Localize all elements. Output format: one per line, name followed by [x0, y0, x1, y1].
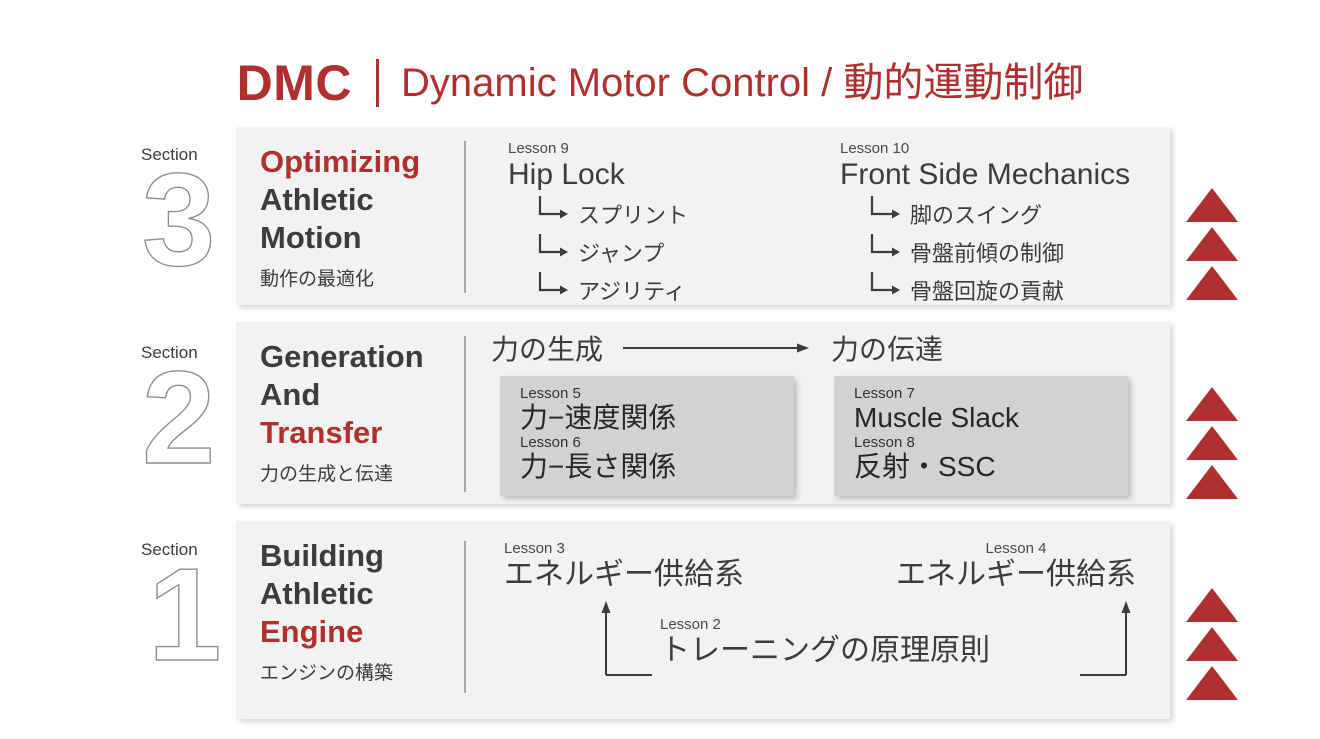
section-heading-3: Optimizing Athletic Motion 動作の最適化	[260, 143, 460, 291]
svg-text:2: 2	[142, 359, 215, 479]
flow-row: 力の生成 力の伝達	[491, 330, 1151, 370]
svg-text:1: 1	[148, 556, 221, 676]
elbow-arrow-icon	[868, 194, 902, 229]
lesson-title: 反射・SSC	[854, 452, 1112, 483]
lesson-label: Lesson 5	[520, 386, 778, 403]
sub-item-row[interactable]: ジャンプ	[536, 229, 688, 267]
section-divider-2	[464, 336, 466, 492]
lesson-label: Lesson 2	[660, 617, 990, 634]
lesson-label: Lesson 3	[504, 541, 744, 558]
triangle-group-2	[1186, 387, 1242, 504]
svg-text:3: 3	[142, 161, 215, 281]
heading-subtitle-ja: 動作の最適化	[260, 264, 460, 291]
heading-line: Motion	[260, 219, 460, 257]
flow-from-label: 力の生成	[491, 336, 603, 364]
sub-item-label: スプリント	[578, 205, 688, 227]
flow-to-label: 力の伝達	[831, 336, 943, 364]
lesson-title: Front Side Mechanics	[840, 158, 1130, 191]
lesson-title: 力−長さ関係	[520, 452, 778, 483]
triangle-marker	[1186, 227, 1238, 261]
triangle-marker	[1186, 627, 1238, 661]
heading-line-accent: Transfer	[260, 414, 460, 452]
section-band-3: Optimizing Athletic Motion 動作の最適化 Lesson…	[236, 127, 1170, 305]
heading-line-accent: Optimizing	[260, 143, 460, 181]
sub-item-row[interactable]: 骨盤前傾の制御	[868, 229, 1130, 267]
triangle-marker	[1186, 426, 1238, 460]
section-heading-2: Generation And Transfer 力の生成と伝達	[260, 338, 460, 486]
section-numeral-1: 1	[138, 556, 234, 676]
lesson-title: Hip Lock	[508, 158, 688, 191]
elbow-arrow-icon	[868, 232, 902, 267]
section-band-2: Generation And Transfer 力の生成と伝達 力の生成 力の伝…	[236, 322, 1170, 504]
lesson-block-10[interactable]: Lesson 10 Front Side Mechanics 脚のスイング 骨盤…	[840, 141, 1130, 305]
lesson-label: Lesson 8	[854, 435, 1112, 452]
page-subtitle: Dynamic Motor Control / 動的運動制御	[401, 63, 1083, 103]
heading-line: Athletic	[260, 575, 460, 613]
triangle-marker	[1186, 666, 1238, 700]
sub-item-label: 骨盤前傾の制御	[910, 243, 1064, 265]
lesson-title: エネルギー供給系	[504, 558, 744, 591]
title-divider-rule	[376, 59, 379, 107]
triangle-marker	[1186, 588, 1238, 622]
heading-line: Building	[260, 537, 460, 575]
heading-line-accent: Engine	[260, 613, 460, 651]
triangle-group-1	[1186, 588, 1242, 705]
lesson-label: Lesson 9	[508, 141, 688, 158]
triangle-group-3	[1186, 188, 1242, 305]
right-arrow-icon	[623, 340, 811, 361]
sub-item-label: 脚のスイング	[910, 205, 1042, 227]
section-tag-2: Section 2	[138, 344, 234, 479]
triangle-marker	[1186, 188, 1238, 222]
section-tag-3: Section 3	[138, 146, 234, 281]
section-divider-3	[464, 141, 466, 293]
heading-line: Athletic	[260, 181, 460, 219]
sub-item-row[interactable]: 骨盤回旋の貢献	[868, 267, 1130, 305]
sub-item-row[interactable]: スプリント	[536, 191, 688, 229]
lesson-block-4[interactable]: Lesson 4 エネルギー供給系	[896, 541, 1136, 591]
heading-line: And	[260, 376, 460, 414]
section-numeral-2: 2	[138, 359, 234, 479]
lesson-title: Muscle Slack	[854, 403, 1112, 434]
triangle-marker	[1186, 465, 1238, 499]
sub-item-row[interactable]: 脚のスイング	[868, 191, 1130, 229]
lesson-block-2[interactable]: Lesson 2 トレーニングの原理原則	[660, 617, 990, 667]
lesson-label: Lesson 4	[896, 541, 1136, 558]
sub-item-label: ジャンプ	[578, 243, 664, 265]
elbow-arrow-icon	[536, 270, 570, 305]
sub-item-row[interactable]: アジリティ	[536, 267, 688, 305]
section-heading-1: Building Athletic Engine エンジンの構築	[260, 537, 460, 685]
lesson-label: Lesson 7	[854, 386, 1112, 403]
elbow-arrow-icon	[536, 194, 570, 229]
lesson-label: Lesson 10	[840, 141, 1130, 158]
triangle-marker	[1186, 387, 1238, 421]
lesson-block-9[interactable]: Lesson 9 Hip Lock スプリント ジャンプ アジリティ	[508, 141, 688, 305]
heading-subtitle-ja: エンジンの構築	[260, 658, 460, 685]
page-title: DMC Dynamic Motor Control / 動的運動制御	[0, 52, 1320, 114]
triangle-marker	[1186, 266, 1238, 300]
elbow-arrow-icon	[536, 232, 570, 267]
sub-item-label: アジリティ	[578, 281, 686, 303]
section-numeral-3: 3	[138, 161, 234, 281]
heading-subtitle-ja: 力の生成と伝達	[260, 459, 460, 486]
lesson-title: 力−速度関係	[520, 403, 778, 434]
lesson-card-left[interactable]: Lesson 5 力−速度関係 Lesson 6 力−長さ関係	[500, 376, 794, 496]
section-tag-1: Section 1	[138, 541, 234, 676]
sub-item-label: 骨盤回旋の貢献	[910, 281, 1064, 303]
section-divider-1	[464, 541, 466, 693]
lesson-label: Lesson 6	[520, 435, 778, 452]
lesson-title: トレーニングの原理原則	[660, 634, 990, 667]
heading-line: Generation	[260, 338, 460, 376]
lesson-title: エネルギー供給系	[896, 558, 1136, 591]
elbow-arrow-icon	[868, 270, 902, 305]
section-band-1: Building Athletic Engine エンジンの構築 Lesson …	[236, 521, 1170, 719]
lesson-card-right[interactable]: Lesson 7 Muscle Slack Lesson 8 反射・SSC	[834, 376, 1128, 496]
brand-logo: DMC	[237, 58, 352, 108]
lesson-block-3[interactable]: Lesson 3 エネルギー供給系	[504, 541, 744, 591]
